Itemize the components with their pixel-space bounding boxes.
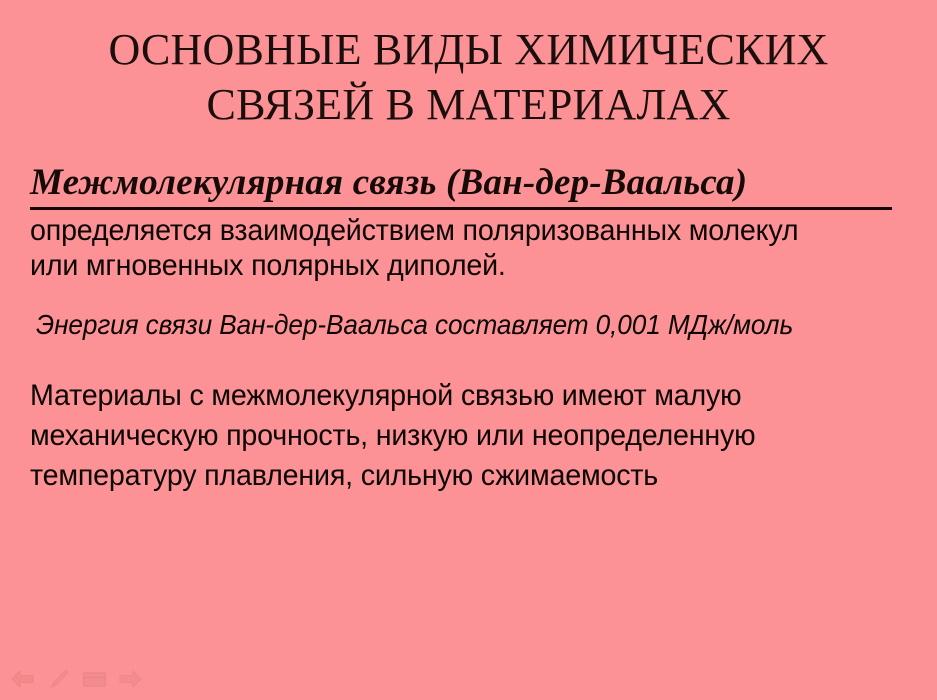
intro-text-line-2: или мгновенных полярных диполей.	[30, 248, 896, 283]
slide-title: ОСНОВНЫЕ ВИДЫ ХИМИЧЕСКИХ СВЯЗЕЙ В МАТЕРИ…	[0, 22, 937, 132]
previous-slide-icon[interactable]	[10, 669, 35, 689]
bond-energy-text: Энергия связи Ван-дер-Ваальса составляет…	[36, 308, 878, 342]
presentation-slide: ОСНОВНЫЕ ВИДЫ ХИМИЧЕСКИХ СВЯЗЕЙ В МАТЕРИ…	[0, 0, 937, 700]
previous-slide-button[interactable]	[8, 667, 37, 691]
presentation-nav-controls	[8, 666, 145, 692]
next-slide-button[interactable]	[116, 667, 145, 691]
paragraph-material-properties: Материалы с межмолекулярной связью имеют…	[0, 376, 937, 496]
material-properties-line-2: механическую прочность, низкую или неопр…	[30, 416, 896, 456]
intro-text-line-1: определяется взаимодействием поляризован…	[30, 213, 896, 248]
pen-icon[interactable]	[47, 667, 71, 691]
intro-text: определяется взаимодействием поляризован…	[30, 213, 896, 283]
slide-title-line-2: СВЯЗЕЙ В МАТЕРИАЛАХ	[0, 77, 937, 132]
material-properties-line-1: Материалы с межмолекулярной связью имеют…	[30, 376, 896, 416]
material-properties-text: Материалы с межмолекулярной связью имеют…	[30, 376, 896, 496]
slide-title-line-1: ОСНОВНЫЕ ВИДЫ ХИМИЧЕСКИХ	[0, 22, 937, 77]
paragraph-bond-energy: Энергия связи Ван-дер-Ваальса составляет…	[0, 308, 937, 342]
material-properties-line-3: температуру плавления, сильную сжимаемос…	[30, 456, 896, 496]
paragraph-intermolecular-bond: Межмолекулярная связь (Ван-дер-Ваальса) …	[0, 160, 937, 283]
slide-menu-button[interactable]	[80, 667, 109, 691]
next-slide-icon[interactable]	[118, 669, 143, 689]
pen-button[interactable]	[44, 667, 73, 691]
slide-menu-icon[interactable]	[82, 670, 108, 689]
van-der-waals-heading: Межмолекулярная связь (Ван-дер-Ваальса)	[30, 160, 892, 210]
